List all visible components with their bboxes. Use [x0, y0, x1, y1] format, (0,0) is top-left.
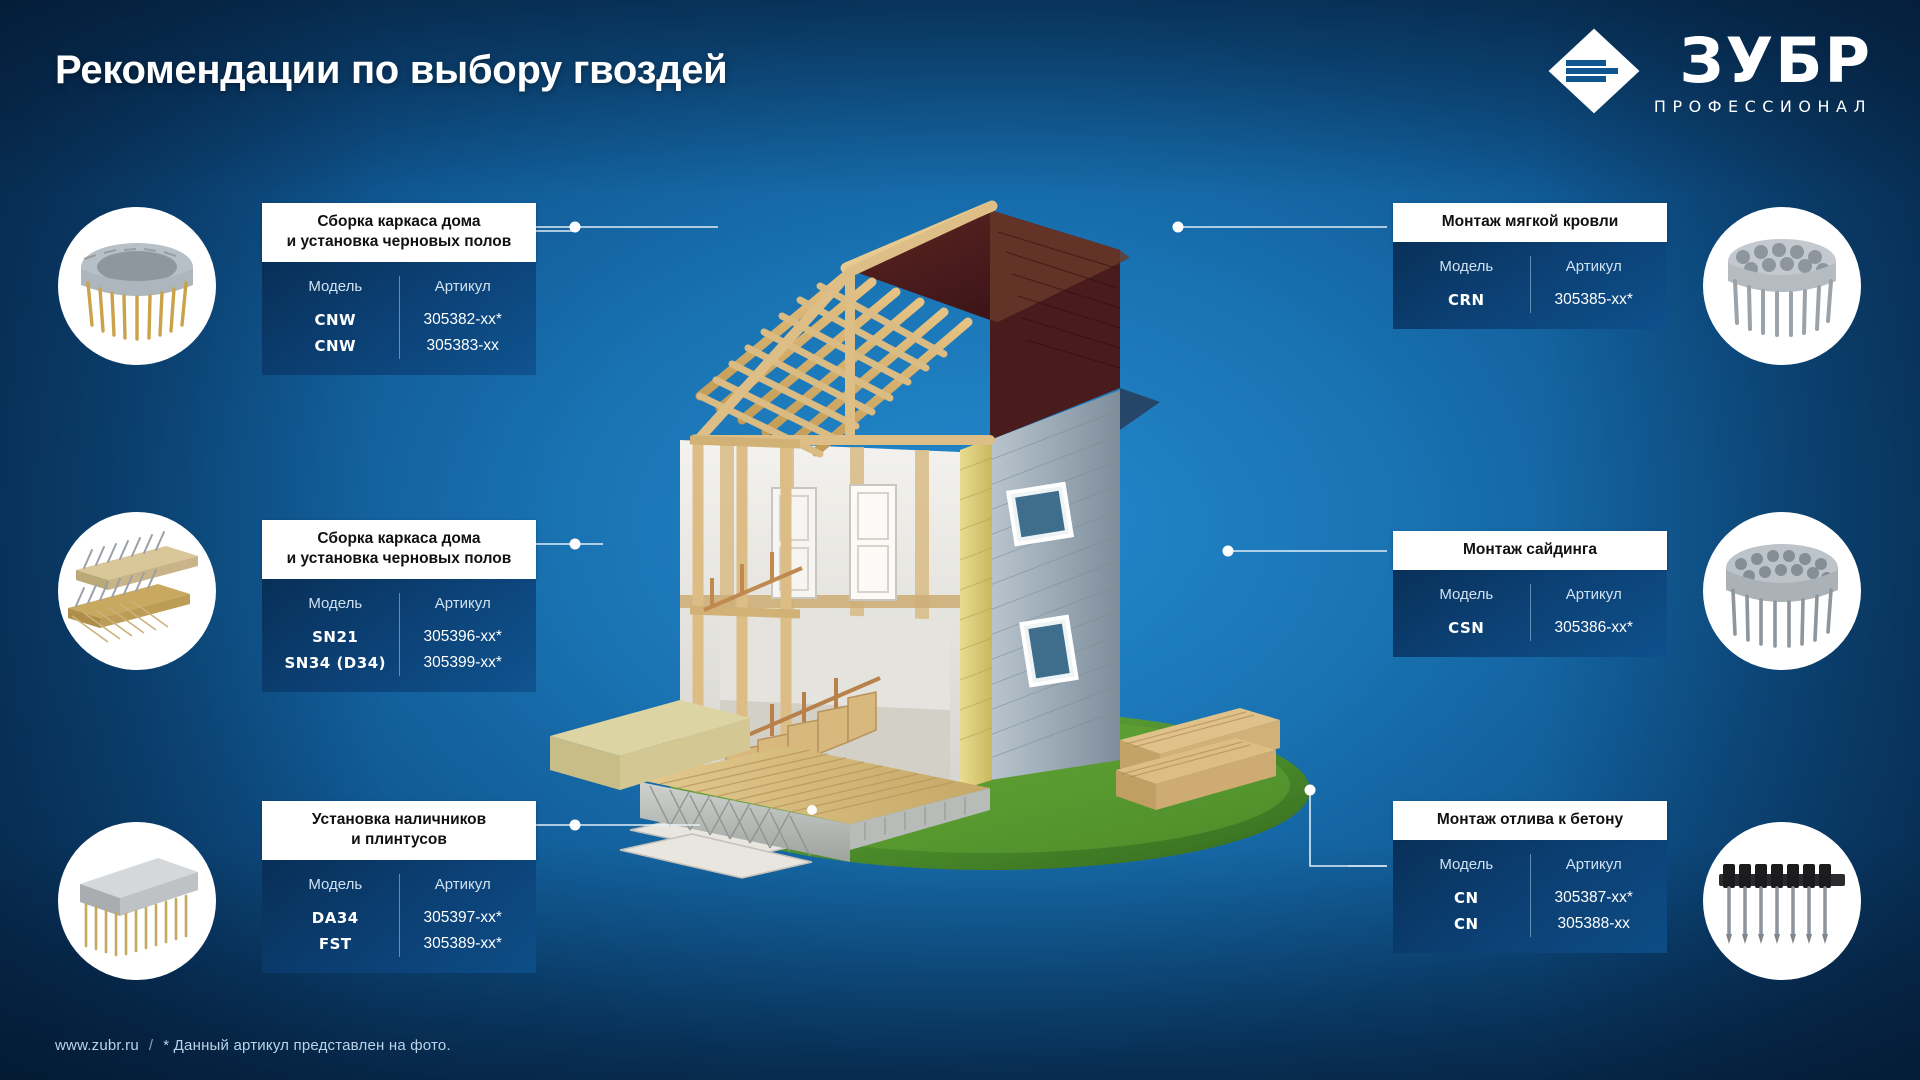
footer-note: * Данный артикул представлен на фото.	[163, 1037, 451, 1054]
table-row: CSN 305386-xx*	[1403, 615, 1657, 641]
spec-table: Модель Артикул CRN 305385-xx*	[1403, 256, 1657, 313]
column-header-article: Артикул	[1530, 256, 1657, 287]
strip-nails-icon	[58, 512, 216, 670]
card-trim-and-baseboards[interactable]: Установка наличников и плинтусов Модель …	[262, 801, 536, 973]
cell-article: 305396-xx*	[399, 624, 526, 650]
cell-article: 305397-xx*	[399, 905, 526, 931]
table-row: FST 305389-xx*	[272, 931, 526, 957]
cell-model: FST	[272, 931, 399, 957]
product-image-strip-nails	[58, 512, 216, 670]
footer: www.zubr.ru / * Данный артикул представл…	[55, 1037, 451, 1054]
cell-model: CN	[1403, 885, 1530, 911]
column-header-model: Модель	[1403, 854, 1530, 885]
table-header-row: Модель Артикул	[1403, 854, 1657, 885]
cell-model: CRN	[1403, 287, 1530, 313]
cell-model: CNW	[272, 307, 399, 333]
card-title: Сборка каркаса дома и установка черновых…	[262, 203, 536, 262]
logo-tagline: ПРОФЕССИОНАЛ	[1654, 97, 1872, 116]
spec-table: Модель Артикул SN21 305396-xx* SN34 (D34…	[272, 593, 526, 676]
card-frame-assembly-strip[interactable]: Сборка каркаса дома и установка черновых…	[262, 520, 536, 692]
spec-table: Модель Артикул CN 305387-xx* CN 305388-x…	[1403, 854, 1657, 937]
table-row: SN34 (D34) 305399-xx*	[272, 650, 526, 676]
column-header-model: Модель	[272, 874, 399, 905]
column-header-article: Артикул	[1530, 854, 1657, 885]
column-header-article: Артикул	[399, 593, 526, 624]
card-body: Модель Артикул DA34 305397-xx* FST 30538…	[262, 860, 536, 973]
card-title-line1: Монтаж отлива к бетону	[1403, 810, 1657, 830]
cell-model: SN34 (D34)	[272, 650, 399, 676]
card-body: Модель Артикул CRN 305385-xx*	[1393, 242, 1667, 329]
cell-article: 305385-xx*	[1530, 287, 1657, 313]
cell-model: CNW	[272, 333, 399, 359]
column-header-model: Модель	[272, 276, 399, 307]
card-body: Модель Артикул SN21 305396-xx* SN34 (D34…	[262, 579, 536, 692]
card-title-line1: Монтаж мягкой кровли	[1403, 212, 1657, 232]
cell-article: 305387-xx*	[1530, 885, 1657, 911]
column-header-article: Артикул	[399, 874, 526, 905]
roofing-coil-nails-icon	[1703, 207, 1861, 365]
cell-article: 305399-xx*	[399, 650, 526, 676]
card-title-line1: Сборка каркаса дома	[272, 212, 526, 232]
column-header-model: Модель	[1403, 256, 1530, 287]
card-title-line1: Установка наличников	[272, 810, 526, 830]
product-image-roofing-coil-nails	[1703, 207, 1861, 365]
card-title: Установка наличников и плинтусов	[262, 801, 536, 860]
cell-article: 305382-xx*	[399, 307, 526, 333]
table-row: CN 305388-xx	[1403, 911, 1657, 937]
cell-article: 305388-xx	[1530, 911, 1657, 937]
product-image-concrete-pin-nails	[1703, 822, 1861, 980]
cell-model: SN21	[272, 624, 399, 650]
card-title: Сборка каркаса дома и установка черновых…	[262, 520, 536, 579]
cell-article: 305389-xx*	[399, 931, 526, 957]
table-row: CNW 305383-xx	[272, 333, 526, 359]
cell-article: 305386-xx*	[1530, 615, 1657, 641]
product-image-finish-brad-nails	[58, 822, 216, 980]
column-header-article: Артикул	[1530, 584, 1657, 615]
table-header-row: Модель Артикул	[1403, 584, 1657, 615]
table-row: DA34 305397-xx*	[272, 905, 526, 931]
table-header-row: Модель Артикул	[272, 874, 526, 905]
table-row: CRN 305385-xx*	[1403, 287, 1657, 313]
card-title: Монтаж сайдинга	[1393, 531, 1667, 570]
table-row: CN 305387-xx*	[1403, 885, 1657, 911]
concrete-pin-nails-icon	[1703, 822, 1861, 980]
column-header-model: Модель	[1403, 584, 1530, 615]
table-header-row: Модель Артикул	[272, 276, 526, 307]
spec-table: Модель Артикул CNW 305382-xx* CNW 305383…	[272, 276, 526, 359]
card-title-line1: Сборка каркаса дома	[272, 529, 526, 549]
card-title: Монтаж мягкой кровли	[1393, 203, 1667, 242]
table-row: SN21 305396-xx*	[272, 624, 526, 650]
card-body: Модель Артикул CN 305387-xx* CN 305388-x…	[1393, 840, 1667, 953]
card-title-line2: и плинтусов	[272, 830, 526, 850]
cutaway-house-illustration	[520, 140, 1400, 900]
cell-model: DA34	[272, 905, 399, 931]
column-header-article: Артикул	[399, 276, 526, 307]
logo-wordmark: ЗУБР	[1679, 32, 1872, 91]
table-header-row: Модель Артикул	[1403, 256, 1657, 287]
card-title-line2: и установка черновых полов	[272, 232, 526, 252]
card-title-line2: и установка черновых полов	[272, 549, 526, 569]
finish-brad-nails-icon	[58, 822, 216, 980]
card-body: Модель Артикул CSN 305386-xx*	[1393, 570, 1667, 657]
card-soft-roof-mounting[interactable]: Монтаж мягкой кровли Модель Артикул CRN …	[1393, 203, 1667, 329]
product-image-siding-coil-nails	[1703, 512, 1861, 670]
card-title: Монтаж отлива к бетону	[1393, 801, 1667, 840]
table-header-row: Модель Артикул	[272, 593, 526, 624]
brand-logo: ЗУБР ПРОФЕССИОНАЛ	[1548, 28, 1872, 116]
card-drip-edge-to-concrete[interactable]: Монтаж отлива к бетону Модель Артикул CN…	[1393, 801, 1667, 953]
cell-article: 305383-xx	[399, 333, 526, 359]
footer-website-link[interactable]: www.zubr.ru	[55, 1037, 139, 1054]
cell-model: CN	[1403, 911, 1530, 937]
card-siding-mounting[interactable]: Монтаж сайдинга Модель Артикул CSN 30538…	[1393, 531, 1667, 657]
coil-nails-icon	[58, 207, 216, 365]
card-frame-assembly-coil[interactable]: Сборка каркаса дома и установка черновых…	[262, 203, 536, 375]
product-image-coil-nails	[58, 207, 216, 365]
spec-table: Модель Артикул DA34 305397-xx* FST 30538…	[272, 874, 526, 957]
page-title: Рекомендации по выбору гвоздей	[55, 48, 727, 93]
table-row: CNW 305382-xx*	[272, 307, 526, 333]
column-header-model: Модель	[272, 593, 399, 624]
card-body: Модель Артикул CNW 305382-xx* CNW 305383…	[262, 262, 536, 375]
siding-coil-nails-icon	[1703, 512, 1861, 670]
spec-table: Модель Артикул CSN 305386-xx*	[1403, 584, 1657, 641]
zubr-diamond-arrow-icon	[1548, 28, 1640, 114]
cell-model: CSN	[1403, 615, 1530, 641]
footer-separator: /	[149, 1037, 153, 1054]
card-title-line1: Монтаж сайдинга	[1403, 540, 1657, 560]
